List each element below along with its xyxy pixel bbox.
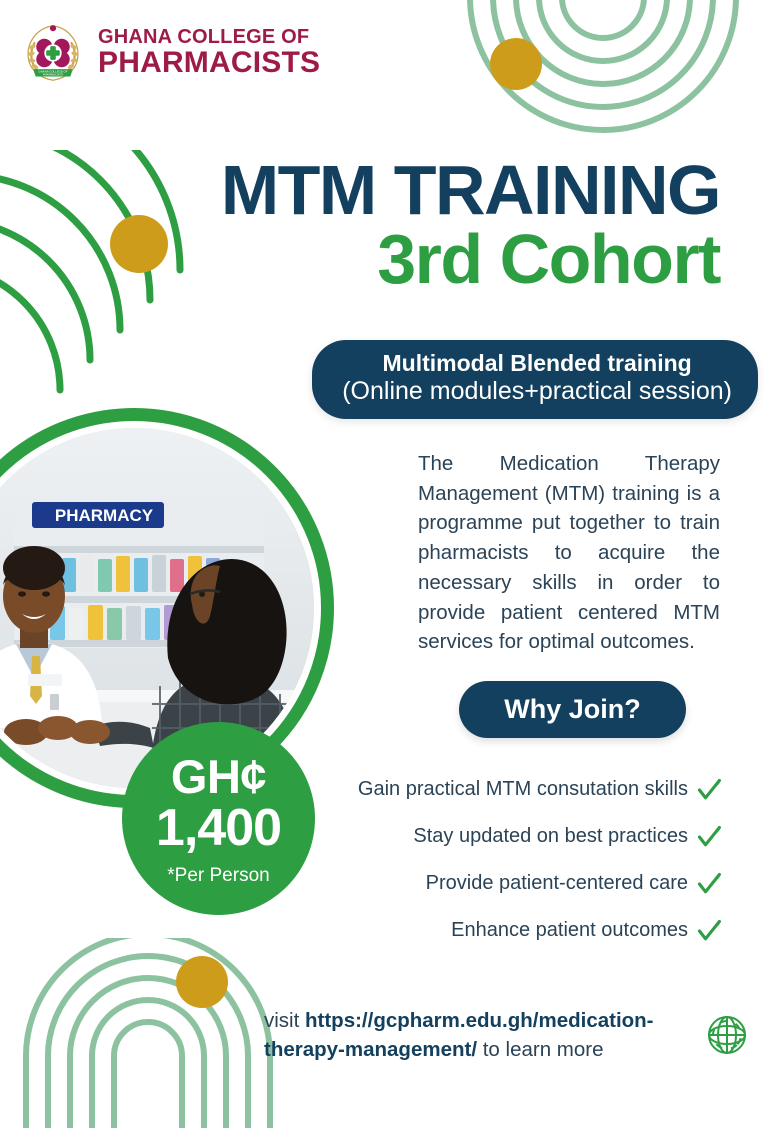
college-crest-icon: GHANA COLLEGE OF PHARMACISTS	[22, 22, 84, 84]
benefit-text: Provide patient-centered care	[426, 872, 688, 895]
price-currency: GH¢	[171, 753, 266, 800]
why-join-heading: Why Join?	[459, 681, 686, 738]
banner-line2: (Online modules+practical session)	[342, 377, 732, 406]
college-name: GHANA COLLEGE OF PHARMACISTS	[98, 28, 320, 78]
training-format-banner: Multimodal Blended training (Online modu…	[312, 340, 758, 419]
headline-main: MTM TRAINING	[221, 158, 720, 222]
headline-sub: 3rd Cohort	[221, 224, 720, 294]
college-name-line2: PHARMACISTS	[98, 49, 320, 78]
footer: visit https://gcpharm.edu.gh/medication-…	[264, 1006, 752, 1064]
benefits-list: Gain practical MTM consutation skills St…	[302, 766, 722, 954]
college-name-line1: GHANA COLLEGE OF	[98, 28, 320, 47]
check-icon	[696, 824, 722, 850]
check-icon	[696, 871, 722, 897]
why-join-label: Why Join?	[504, 694, 641, 725]
check-icon	[696, 777, 722, 803]
list-item: Gain practical MTM consutation skills	[302, 766, 722, 813]
footer-prefix: visit	[264, 1009, 305, 1032]
pharmacy-signage: PHARMACY	[55, 506, 154, 525]
price-note: *Per Person	[167, 866, 269, 885]
banner-line1: Multimodal Blended training	[342, 350, 732, 376]
brand-header: GHANA COLLEGE OF PHARMACISTS GHANA COLLE…	[22, 22, 320, 84]
globe-icon	[702, 1010, 752, 1060]
benefit-text: Stay updated on best practices	[413, 825, 688, 848]
benefit-text: Gain practical MTM consutation skills	[358, 778, 688, 801]
list-item: Stay updated on best practices	[302, 813, 722, 860]
decorative-gold-dot-left	[110, 215, 168, 273]
benefit-text: Enhance patient outcomes	[451, 919, 688, 942]
list-item: Provide patient-centered care	[302, 860, 722, 907]
price-amount: 1,400	[156, 802, 281, 854]
decorative-gold-dot-top	[490, 38, 542, 90]
check-icon	[696, 918, 722, 944]
footer-text: visit https://gcpharm.edu.gh/medication-…	[264, 1006, 690, 1064]
decorative-gold-dot-bottom	[176, 956, 228, 1008]
svg-text:PHARMACISTS: PHARMACISTS	[43, 73, 64, 77]
price-badge: GH¢ 1,400 *Per Person	[122, 722, 315, 915]
list-item: Enhance patient outcomes	[302, 907, 722, 954]
page-title: MTM TRAINING 3rd Cohort	[221, 158, 720, 294]
footer-suffix: to learn more	[477, 1038, 603, 1061]
programme-description: The Medication Therapy Management (MTM) …	[418, 449, 720, 657]
